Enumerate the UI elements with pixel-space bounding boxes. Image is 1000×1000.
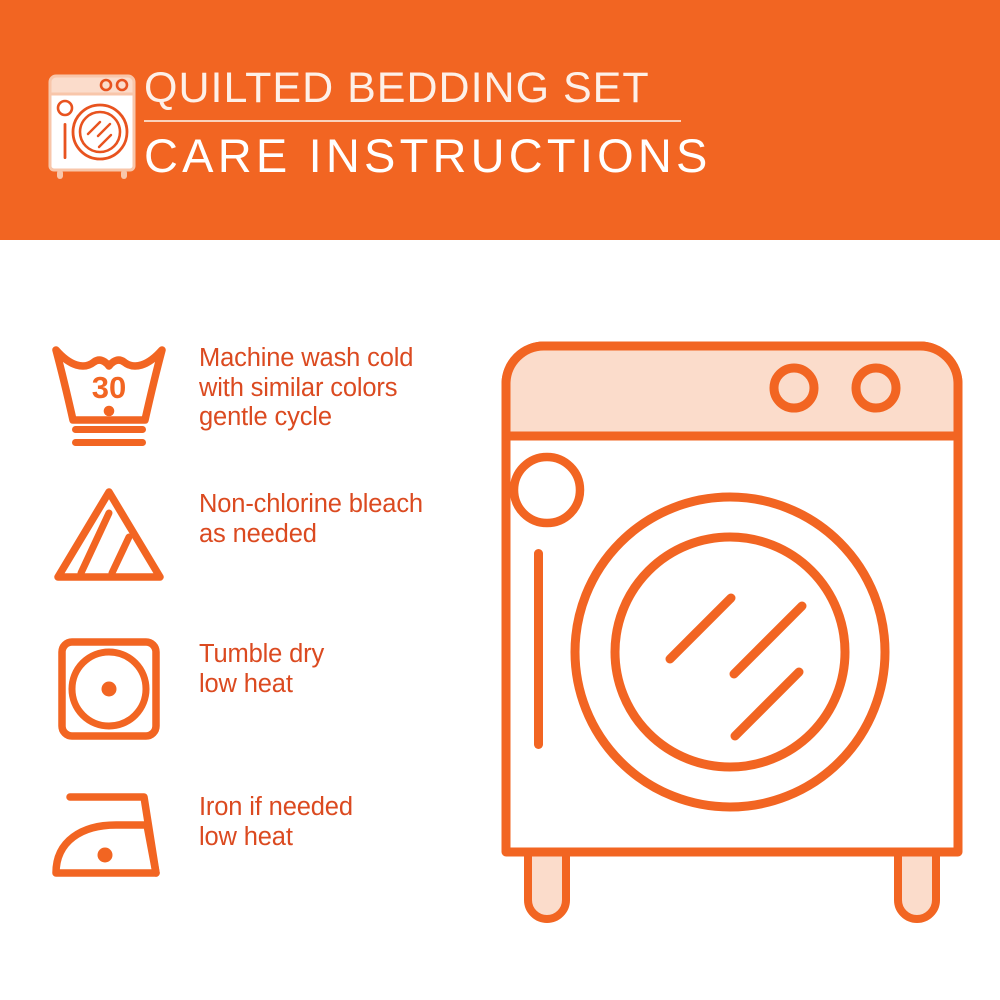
care-line: gentle cycle <box>199 403 489 433</box>
care-item-label: Machine wash cold with similar colors ge… <box>199 344 489 433</box>
care-item-machine-wash: 30 Machine wash cold with similar colors… <box>0 336 480 486</box>
washing-machine-icon <box>44 68 152 180</box>
care-instruction-list: 30 Machine wash cold with similar colors… <box>0 240 480 1000</box>
page-header: QUILTED BEDDING SET CARE INSTRUCTIONS <box>0 0 1000 240</box>
care-item-label: Non-chlorine bleach as needed <box>199 490 489 549</box>
care-item-iron: Iron if needed low heat <box>0 785 480 935</box>
bleach-triangle-icon <box>48 482 170 600</box>
care-item-label: Tumble dry low heat <box>199 640 489 699</box>
care-line: as needed <box>199 520 489 550</box>
washing-machine-illustration <box>482 322 982 942</box>
iron-low-heat-icon <box>48 785 170 903</box>
tumble-dry-low-icon <box>48 632 170 750</box>
machine-handle-bar <box>534 549 543 749</box>
header-text-block: QUILTED BEDDING SET CARE INSTRUCTIONS <box>144 62 704 185</box>
wash-temperature-label: 30 <box>92 370 126 405</box>
care-item-tumble-dry: Tumble dry low heat <box>0 632 480 782</box>
care-item-label: Iron if needed low heat <box>199 793 489 852</box>
page-title: QUILTED BEDDING SET <box>144 62 704 114</box>
page-subtitle: CARE INSTRUCTIONS <box>144 122 704 185</box>
care-line: with similar colors <box>199 374 489 404</box>
wash-basin-30-icon: 30 <box>48 336 170 454</box>
care-line: low heat <box>199 670 489 700</box>
care-line: Iron if needed <box>199 793 489 823</box>
care-item-bleach: Non-chlorine bleach as needed <box>0 482 480 632</box>
care-line: Machine wash cold <box>199 344 489 374</box>
care-instructions-page: QUILTED BEDDING SET CARE INSTRUCTIONS 30 <box>0 0 1000 1000</box>
machine-control-panel <box>506 346 958 436</box>
care-line: low heat <box>199 823 489 853</box>
care-line: Tumble dry <box>199 640 489 670</box>
care-line: Non-chlorine bleach <box>199 490 489 520</box>
